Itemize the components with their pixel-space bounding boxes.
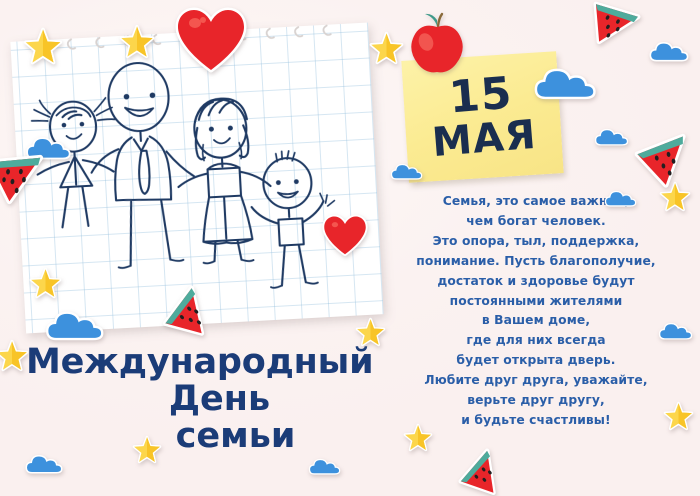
star-icon [0,340,28,371]
star-icon [30,268,61,298]
figure-mom [174,96,275,265]
title-line-2: День [26,381,371,418]
poem-line: где для них всегда [386,331,686,351]
cloud-icon [660,322,692,340]
cloud-icon [596,128,628,146]
star-icon [664,402,693,430]
star-icon [133,436,161,463]
title-line-1: Международный [26,344,371,381]
heart-icon [323,215,367,257]
watermelon-icon [0,150,48,202]
date-month: МАЯ [431,115,538,164]
watermelon-icon [590,2,640,47]
cloud-icon [606,190,636,207]
poem-text: Семья, это самое важное, чем богат челов… [386,192,686,431]
star-icon [404,424,432,451]
poem-line: верьте друг другу, [386,391,686,411]
cloud-icon [651,41,688,62]
poem-line: Это опора, тыл, поддержка, [386,232,686,252]
poem-line: чем богат человек. [386,212,686,232]
poem-line: достаток и здоровье будут [386,272,686,292]
cloud-icon [537,67,595,100]
poem-line: понимание. Пусть благополучие, [386,252,686,272]
page-title: Международный День семьи [26,344,371,455]
cloud-icon [48,310,103,341]
poster-canvas: 15 МАЯ Семья, это самое важное, чем бога… [0,0,700,496]
star-icon [356,318,385,346]
star-icon [24,28,62,64]
poem-line: постоянными жителями [386,292,686,312]
title-line-3: семьи [26,418,371,455]
cloud-icon [27,454,62,474]
heart-icon [176,8,246,74]
family-drawing [23,41,373,319]
poem-line: Любите друг друга, уважайте, [386,371,686,391]
poem-line: будет открыта дверь. [386,351,686,371]
cloud-icon [392,163,422,180]
star-icon [370,32,403,64]
poem-line: Семья, это самое важное, [386,192,686,212]
poem-line: в Вашем доме, [386,311,686,331]
star-icon [120,25,154,58]
watermelon-icon [166,290,216,335]
watermelon-icon [640,134,696,184]
watermelon-icon [462,452,508,494]
cloud-icon [310,458,340,475]
apple-icon [408,10,466,72]
